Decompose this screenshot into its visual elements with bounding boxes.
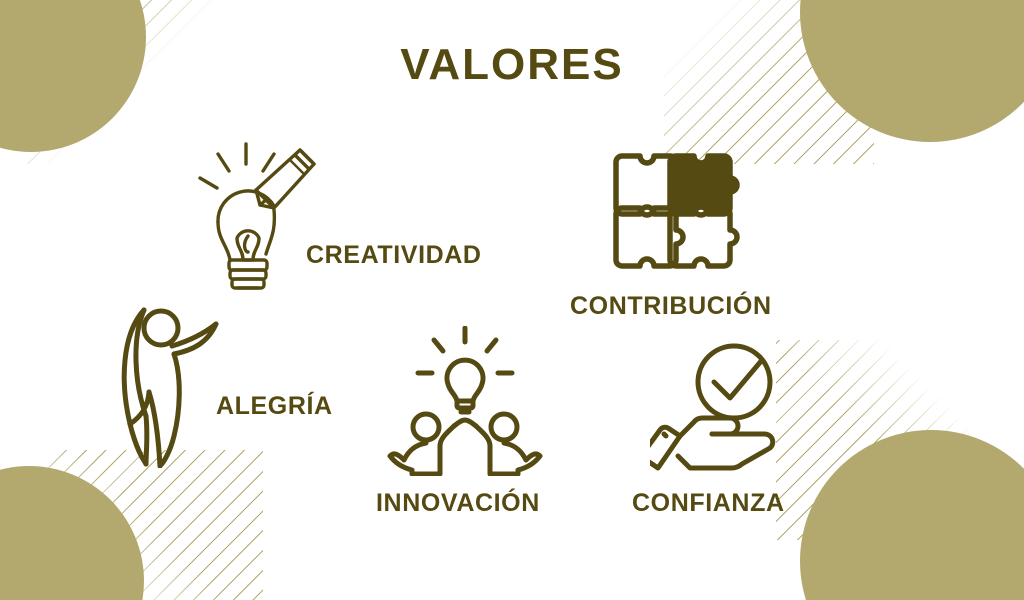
puzzle-pieces-icon <box>608 138 748 286</box>
people-highfive-lightbulb-icon <box>386 326 544 476</box>
value-label-creatividad: CREATIVIDAD <box>306 241 482 270</box>
joyful-person-icon <box>116 296 224 468</box>
value-label-innovacion: INNOVACIÓN <box>376 489 540 518</box>
hatch-lines-bottom-right-icon <box>776 340 996 540</box>
values-slide: VALORES CR <box>0 0 1024 600</box>
value-label-contribucion: CONTRIBUCIÓN <box>570 292 772 321</box>
hatch-lines-bottom-left-icon <box>48 450 263 600</box>
lightbulb-pencil-icon <box>196 136 324 306</box>
value-label-confianza: CONFIANZA <box>632 489 785 518</box>
circle-bottom-right-icon <box>800 430 1024 600</box>
circle-bottom-left-icon <box>0 466 144 600</box>
hand-checkmark-icon <box>650 338 794 474</box>
page-title: VALORES <box>0 40 1024 90</box>
value-label-alegria: ALEGRÍA <box>216 392 333 421</box>
